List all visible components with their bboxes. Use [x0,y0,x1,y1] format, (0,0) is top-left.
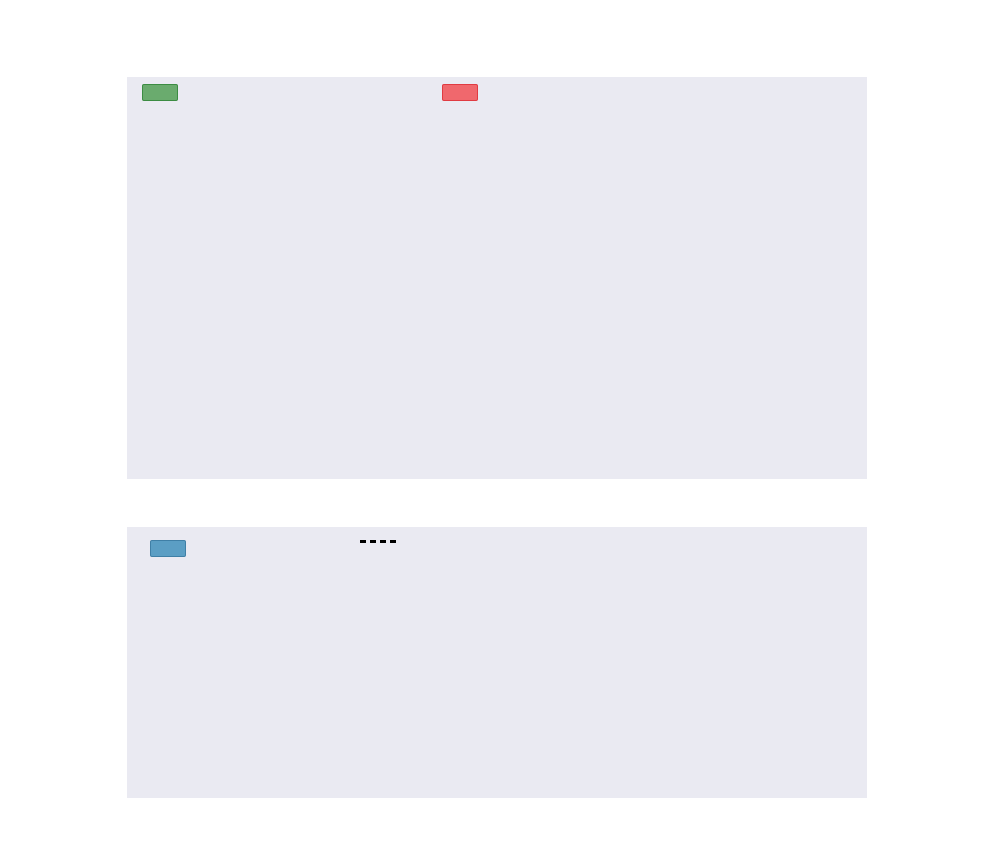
open-interest-plot [127,527,867,798]
legend-net-large-specs[interactable] [142,84,187,101]
legend-swatch-dashed-line [360,540,396,543]
legend-swatch-open-interest [150,540,186,557]
legend-open-interest[interactable] [150,540,195,557]
legend-swatch-green [142,84,178,101]
legend-swatch-red [442,84,478,101]
legend-net-commercial[interactable] [442,84,487,101]
legend-oi-ma[interactable] [360,540,405,543]
cot-positions-plot [127,77,867,479]
